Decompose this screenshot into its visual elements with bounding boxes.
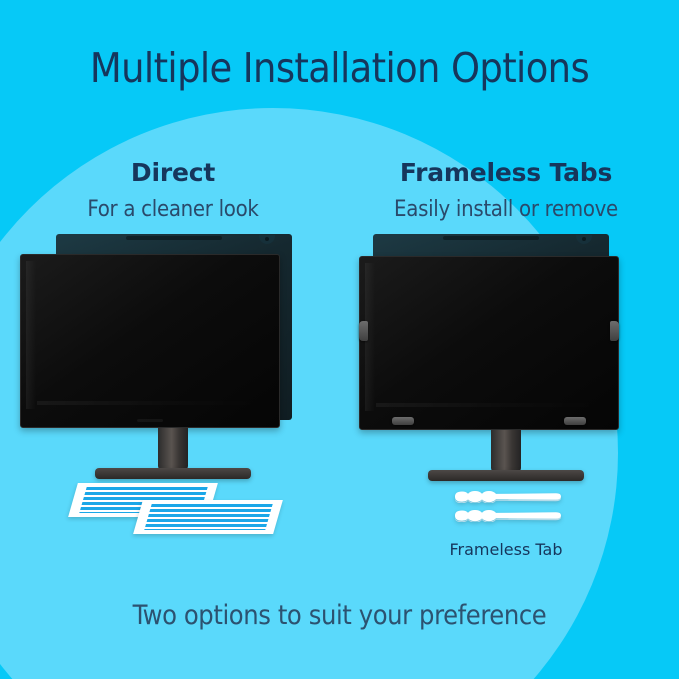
screen-reflection-band (376, 403, 602, 407)
option-title-direct: Direct (8, 158, 338, 187)
privacy-filter-panel (359, 256, 619, 430)
adhesive-strip-lines (144, 504, 272, 530)
screen-reflection-band (37, 401, 263, 405)
monitor-stand-base (95, 468, 251, 479)
mounting-clip-icon (359, 321, 368, 341)
mounting-clip-icon (610, 321, 619, 341)
option-title-frameless: Frameless Tabs (341, 158, 671, 187)
adhesive-strip-sheet (133, 500, 283, 534)
frameless-tab-piece (449, 490, 563, 503)
page-title: Multiple Installation Options (0, 44, 679, 92)
mounting-clip-icon (564, 417, 586, 425)
mounting-clip-icon (392, 417, 414, 425)
monitor-direct (8, 230, 338, 480)
webcam-icon (259, 235, 275, 244)
option-subtitle-frameless: Easily install or remove (341, 197, 671, 222)
monitor-stand-neck (158, 428, 188, 470)
option-subtitle-direct: For a cleaner look (8, 197, 338, 222)
webcam-icon (576, 235, 592, 244)
accessory-label-frameless: Frameless Tab (341, 540, 671, 559)
monitor-frameless (341, 230, 671, 480)
privacy-filter-panel (20, 254, 280, 428)
promo-graphic: Multiple Installation Options Direct For… (0, 0, 679, 679)
monitor-stand-base (428, 470, 584, 481)
monitor-stand-neck (491, 430, 521, 472)
footer-caption: Two options to suit your preference (0, 600, 679, 631)
frameless-tab-piece (449, 509, 563, 522)
screen-logo (137, 419, 163, 422)
adhesive-strip-sheets (8, 480, 338, 550)
screen-gloss (26, 261, 36, 409)
frameless-tab-pieces (341, 488, 671, 548)
